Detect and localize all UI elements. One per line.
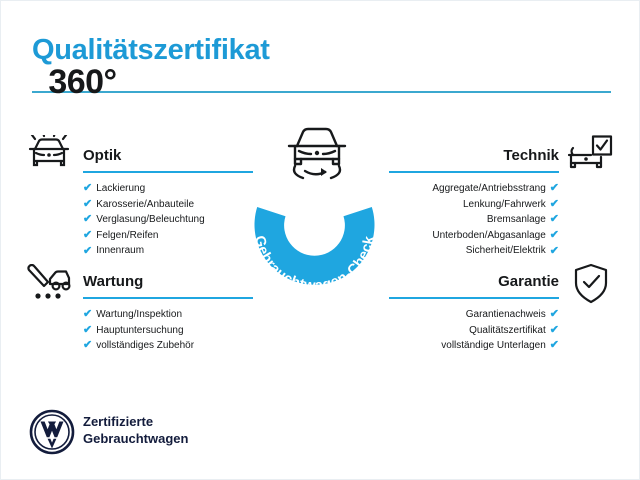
car-shine-icon bbox=[26, 135, 72, 180]
list-item-label: Qualitätszertifikat bbox=[469, 323, 546, 339]
check-icon: ✔ bbox=[550, 340, 559, 351]
section-divider bbox=[389, 297, 559, 299]
list-item-label: Karosserie/Anbauteile bbox=[96, 197, 194, 213]
list-item: ✔Karosserie/Anbauteile bbox=[83, 197, 205, 213]
check-icon: ✔ bbox=[550, 325, 559, 336]
check-icon: ✔ bbox=[550, 230, 559, 241]
check-icon: ✔ bbox=[83, 309, 92, 320]
footer-line-2: Gebrauchtwagen bbox=[83, 430, 188, 447]
shield-check-icon bbox=[571, 263, 611, 310]
list-item-label: Felgen/Reifen bbox=[96, 228, 158, 244]
list-item-label: Sicherheit/Elektrik bbox=[466, 243, 546, 259]
list-item: ✔Innenraum bbox=[83, 243, 205, 259]
list-item: Garantienachweis✔ bbox=[441, 307, 559, 323]
checklist-wartung: ✔Wartung/Inspektion ✔Hauptuntersuchung ✔… bbox=[83, 307, 194, 354]
check-icon: ✔ bbox=[83, 230, 92, 241]
list-item-label: Bremsanlage bbox=[487, 212, 546, 228]
section-divider bbox=[83, 171, 253, 173]
vw-logo-icon bbox=[29, 409, 75, 455]
check-icon: ✔ bbox=[83, 183, 92, 194]
list-item-label: Lenkung/Fahrwerk bbox=[463, 197, 546, 213]
car-checkbox-icon bbox=[567, 135, 613, 180]
list-item: Lenkung/Fahrwerk✔ bbox=[432, 197, 559, 213]
list-item-label: Wartung/Inspektion bbox=[96, 307, 182, 323]
check-icon: ✔ bbox=[83, 246, 92, 257]
section-technik: Technik Aggregate/Antriebsstrang✔ Lenkun… bbox=[441, 147, 559, 173]
list-item-label: Verglasung/Beleuchtung bbox=[96, 212, 204, 228]
check-icon: ✔ bbox=[83, 340, 92, 351]
list-item: vollständige Unterlagen✔ bbox=[441, 338, 559, 354]
page-title: Qualitätszertifikat bbox=[32, 34, 270, 67]
check-icon: ✔ bbox=[83, 199, 92, 210]
section-title-garantie: Garantie bbox=[498, 273, 559, 290]
list-item-label: vollständige Unterlagen bbox=[441, 338, 546, 354]
check-icon: ✔ bbox=[550, 214, 559, 225]
list-item: ✔Hauptuntersuchung bbox=[83, 323, 194, 339]
badge-360-ring: Gebrauchtwagen-Check bbox=[233, 149, 396, 312]
check-icon: ✔ bbox=[550, 183, 559, 194]
checklist-optik: ✔Lackierung ✔Karosserie/Anbauteile ✔Verg… bbox=[83, 181, 205, 259]
section-header: Garantie bbox=[441, 273, 559, 299]
section-divider bbox=[83, 297, 253, 299]
list-item-label: Aggregate/Antriebsstrang bbox=[432, 181, 545, 197]
check-icon: ✔ bbox=[550, 309, 559, 320]
list-item: Unterboden/Abgasanlage✔ bbox=[432, 228, 559, 244]
section-header: Optik bbox=[83, 147, 201, 173]
list-item-label: Garantienachweis bbox=[466, 307, 546, 323]
check-icon: ✔ bbox=[83, 214, 92, 225]
section-header: Wartung bbox=[83, 273, 201, 299]
section-optik: Optik ✔Lackierung ✔Karosserie/Anbauteile… bbox=[83, 147, 201, 173]
list-item: ✔Wartung/Inspektion bbox=[83, 307, 194, 323]
checklist-technik: Aggregate/Antriebsstrang✔ Lenkung/Fahrwe… bbox=[432, 181, 559, 259]
section-wartung: Wartung ✔Wartung/Inspektion ✔Hauptunters… bbox=[83, 273, 201, 299]
list-item: Sicherheit/Elektrik✔ bbox=[432, 243, 559, 259]
list-item: ✔Lackierung bbox=[83, 181, 205, 197]
list-item-label: vollständiges Zubehör bbox=[96, 338, 194, 354]
list-item: Bremsanlage✔ bbox=[432, 212, 559, 228]
certificate-page: Qualitätszertifikat Optik bbox=[0, 0, 640, 480]
section-title-technik: Technik bbox=[503, 147, 559, 164]
wrench-car-service-icon bbox=[26, 264, 72, 309]
title-divider bbox=[32, 91, 611, 93]
checklist-garantie: Garantienachweis✔ Qualitätszertifikat✔ v… bbox=[441, 307, 559, 354]
section-title-optik: Optik bbox=[83, 147, 121, 164]
footer-line-1: Zertifizierte bbox=[83, 413, 188, 430]
list-item: Qualitätszertifikat✔ bbox=[441, 323, 559, 339]
list-item: ✔Verglasung/Beleuchtung bbox=[83, 212, 205, 228]
section-garantie: Garantie Garantienachweis✔ Qualitätszert… bbox=[441, 273, 559, 299]
list-item-label: Lackierung bbox=[96, 181, 145, 197]
check-icon: ✔ bbox=[550, 246, 559, 257]
list-item-label: Unterboden/Abgasanlage bbox=[432, 228, 545, 244]
footer-brand-text: Zertifizierte Gebrauchtwagen bbox=[83, 413, 188, 447]
list-item: ✔vollständiges Zubehör bbox=[83, 338, 194, 354]
check-icon: ✔ bbox=[83, 325, 92, 336]
section-divider bbox=[389, 171, 559, 173]
check-icon: ✔ bbox=[550, 199, 559, 210]
section-title-wartung: Wartung bbox=[83, 273, 143, 290]
list-item: ✔Felgen/Reifen bbox=[83, 228, 205, 244]
list-item-label: Hauptuntersuchung bbox=[96, 323, 183, 339]
list-item-label: Innenraum bbox=[96, 243, 144, 259]
section-header: Technik bbox=[441, 147, 559, 173]
list-item: Aggregate/Antriebsstrang✔ bbox=[432, 181, 559, 197]
